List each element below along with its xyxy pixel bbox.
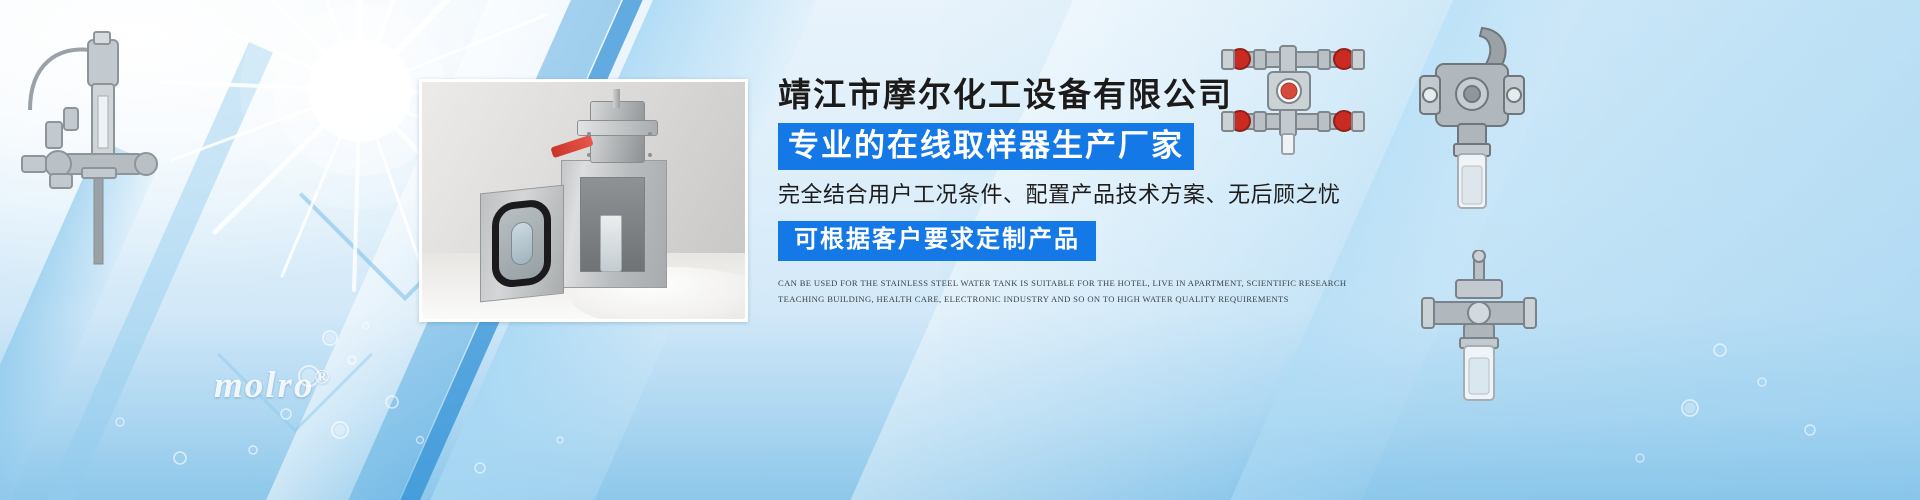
diagonal-band-6 xyxy=(0,40,274,500)
watermark-logo-text: molro xyxy=(214,365,314,406)
tagline-primary: 专业的在线取样器生产厂家 xyxy=(778,123,1194,170)
diagonal-band-5 xyxy=(0,140,158,500)
company-name: 靖江市摩尔化工设备有限公司 xyxy=(778,78,1418,114)
chevron-decor-2 xyxy=(217,277,373,433)
promo-banner: 靖江市摩尔化工设备有限公司 专业的在线取样器生产厂家 完全结合用户工况条件、配置… xyxy=(0,0,1920,500)
watermark-logo: molro® xyxy=(214,364,331,407)
product-photo xyxy=(419,79,748,322)
tagline-secondary: 可根据客户要求定制产品 xyxy=(778,221,1096,261)
inline-sampler-valve-icon xyxy=(1420,250,1540,410)
tagline-description: 完全结合用户工况条件、配置产品技术方案、无后顾之忧 xyxy=(778,181,1418,209)
headline-text-block: 靖江市摩尔化工设备有限公司 专业的在线取样器生产厂家 完全结合用户工况条件、配置… xyxy=(778,78,1418,308)
fineprint-paragraph: CAN BE USED FOR THE STAINLESS STEEL WATE… xyxy=(778,275,1378,309)
registered-mark-icon: ® xyxy=(314,367,331,389)
sampling-probe-assembly-icon xyxy=(6,18,166,278)
lever-handle-valve-icon xyxy=(1408,20,1536,225)
